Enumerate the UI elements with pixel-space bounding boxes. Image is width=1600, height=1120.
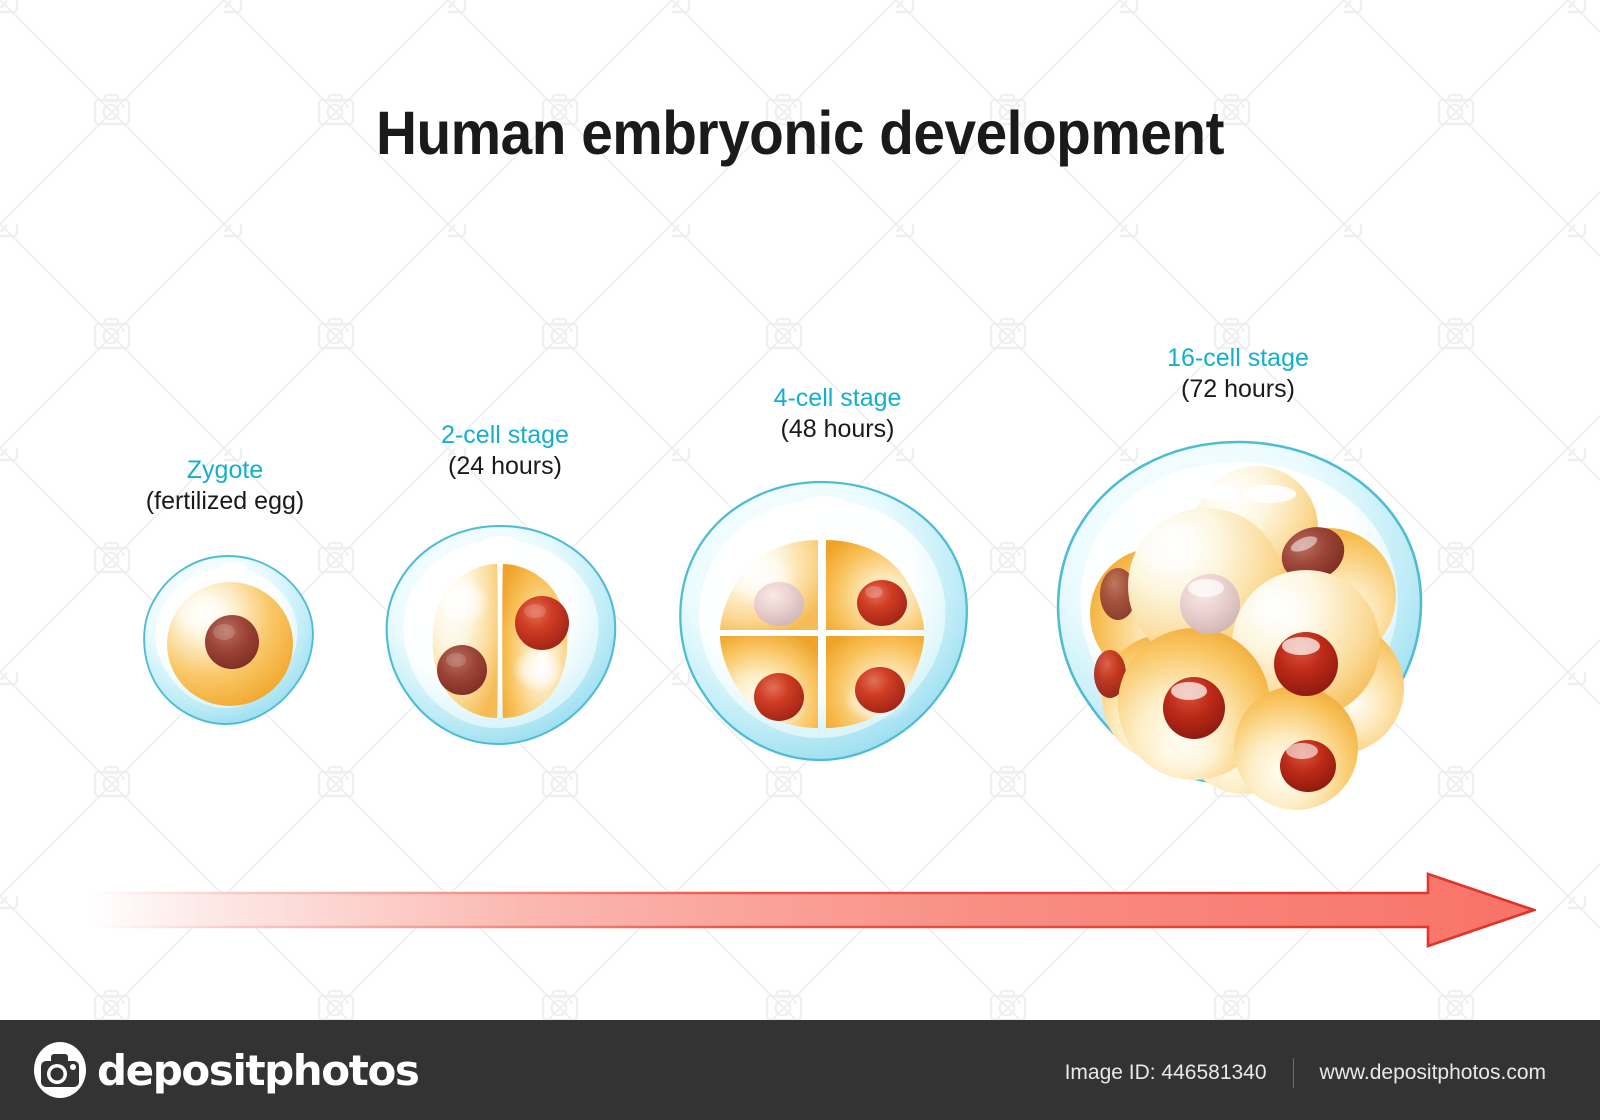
nucleus-front-topleft-highlight [1188, 579, 1224, 597]
nucleus-top-left [754, 582, 804, 626]
surface-bubble [484, 536, 520, 550]
stage-label-zygote: Zygote (fertilized egg) [100, 455, 350, 516]
nucleus-left [437, 645, 487, 695]
stage-time-zygote: (fertilized egg) [100, 486, 350, 517]
nucleus-front-bottomleft-highlight [1171, 682, 1207, 700]
nucleus-right-highlight [524, 604, 546, 618]
surface-bubble [802, 496, 846, 512]
stage-name-16cell: 16-cell stage [1108, 343, 1368, 374]
arrow-shape [90, 874, 1534, 946]
nucleus-top-right-highlight [865, 586, 883, 598]
nucleus-front-bottom-highlight [1286, 743, 1318, 759]
website-link[interactable]: www.depositphotos.com [1294, 1061, 1572, 1085]
embryo-16cell [1038, 436, 1438, 836]
blastomere-right-highlight [512, 648, 564, 692]
page-title: Human embryonic development [56, 98, 1544, 168]
logo-wordmark: depositphotos [97, 1046, 419, 1095]
stage-name-2cell: 2-cell stage [380, 420, 630, 451]
camera-icon [32, 1042, 88, 1098]
stage-name-4cell: 4-cell stage [720, 383, 955, 414]
surface-bubble-right [1244, 485, 1296, 503]
stage-label-4cell: 4-cell stage (48 hours) [720, 383, 955, 444]
embryo-zygote [140, 552, 316, 728]
nucleus-highlight [213, 624, 235, 640]
stage-name-zygote: Zygote [100, 455, 350, 486]
footer-meta: Image ID: 446581340 www.depositphotos.co… [1039, 1058, 1572, 1088]
stage-time-16cell: (72 hours) [1108, 374, 1368, 405]
stock-photo-footer-bar: depositphotos Image ID: 446581340 www.de… [0, 1020, 1600, 1120]
nucleus-top-right [857, 580, 907, 626]
blastomere-left-highlight [438, 578, 490, 626]
nucleus [205, 615, 259, 669]
embryo-2cell [378, 522, 622, 760]
nucleus-bottom-left [754, 673, 804, 721]
blastomere-front-topleft-highlight [1130, 516, 1214, 580]
stage-time-4cell: (48 hours) [720, 414, 955, 445]
surface-bubble-left [1196, 484, 1236, 500]
embryo-4cell [668, 478, 976, 782]
nucleus-front-right-highlight [1282, 637, 1320, 655]
nucleus-bottom-right [855, 667, 905, 713]
stage-label-2cell: 2-cell stage (24 hours) [380, 420, 630, 481]
nucleus-right [515, 596, 569, 650]
stage-time-2cell: (24 hours) [380, 451, 630, 482]
nucleus-left-highlight [446, 653, 466, 667]
surface-bubble [219, 562, 247, 574]
illustration-canvas: Human embryonic development Zygote (fert… [0, 0, 1600, 1120]
time-progression-arrow [88, 860, 1536, 960]
depositphotos-logo[interactable]: depositphotos [32, 1042, 419, 1098]
stage-label-16cell: 16-cell stage (72 hours) [1108, 343, 1368, 404]
image-id-label: Image ID: 446581340 [1039, 1061, 1293, 1085]
